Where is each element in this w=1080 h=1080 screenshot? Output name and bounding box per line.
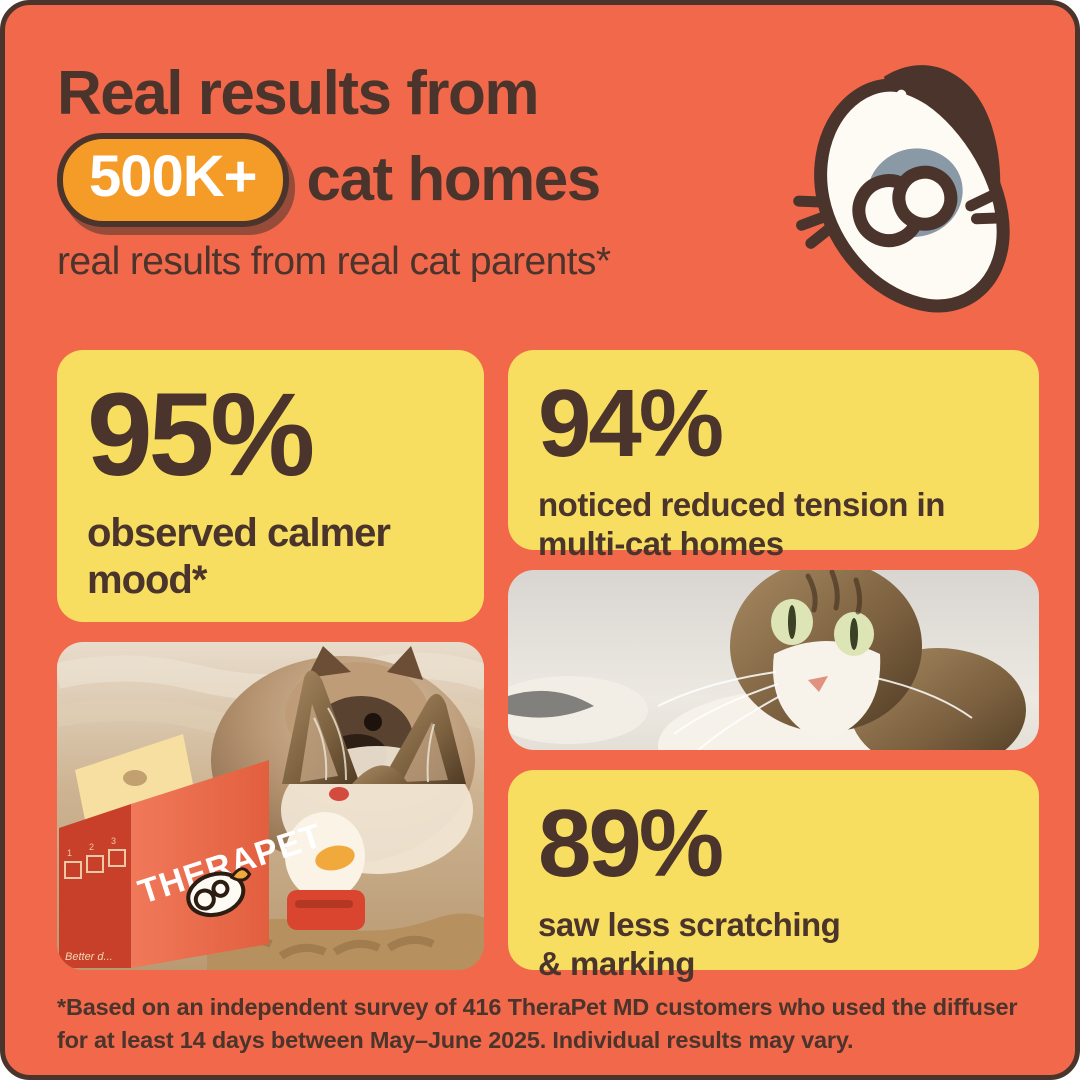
stat-value: 94% [538, 376, 1009, 472]
infographic-poster: Real results from 500K+ cat homes real r… [0, 0, 1080, 1080]
headline-line-2: 500K+ cat homes [57, 133, 817, 228]
customer-count-badge: 500K+ [57, 133, 289, 228]
stat-card-reduced-tension: 94% noticed reduced tension in multi-cat… [508, 350, 1039, 550]
footnote-disclaimer: *Based on an independent survey of 416 T… [57, 991, 1037, 1058]
subheadline: real results from real cat parents* [57, 241, 817, 284]
left-column: 95% observed calmer mood* [57, 350, 484, 970]
headline-line-2-text: cat homes [307, 147, 600, 213]
headline-line-1: Real results from [57, 61, 817, 127]
svg-text:Better d...: Better d... [65, 951, 113, 963]
photo-product-box-with-ragdoll-cat: THERAPET 123 [57, 642, 484, 970]
stat-value: 95% [87, 376, 454, 494]
svg-text:1: 1 [67, 848, 72, 858]
stat-card-calmer-mood: 95% observed calmer mood* [57, 350, 484, 622]
header: Real results from 500K+ cat homes real r… [57, 61, 817, 284]
stat-card-less-scratching: 89% saw less scratching & marking [508, 770, 1039, 970]
right-column: 94% noticed reduced tension in multi-cat… [508, 350, 1039, 970]
stats-and-photos-grid: 95% observed calmer mood* [57, 350, 1039, 970]
stat-value: 89% [538, 796, 1009, 892]
svg-text:2: 2 [89, 842, 94, 852]
therapet-cat-logo-icon [789, 51, 1039, 336]
svg-text:3: 3 [111, 836, 116, 846]
stat-label: saw less scratching & marking [538, 906, 1009, 984]
stat-label: noticed reduced tension in multi-cat hom… [538, 486, 1009, 564]
stat-label: observed calmer mood* [87, 510, 454, 604]
photo-tabby-cat-portrait [508, 570, 1039, 750]
